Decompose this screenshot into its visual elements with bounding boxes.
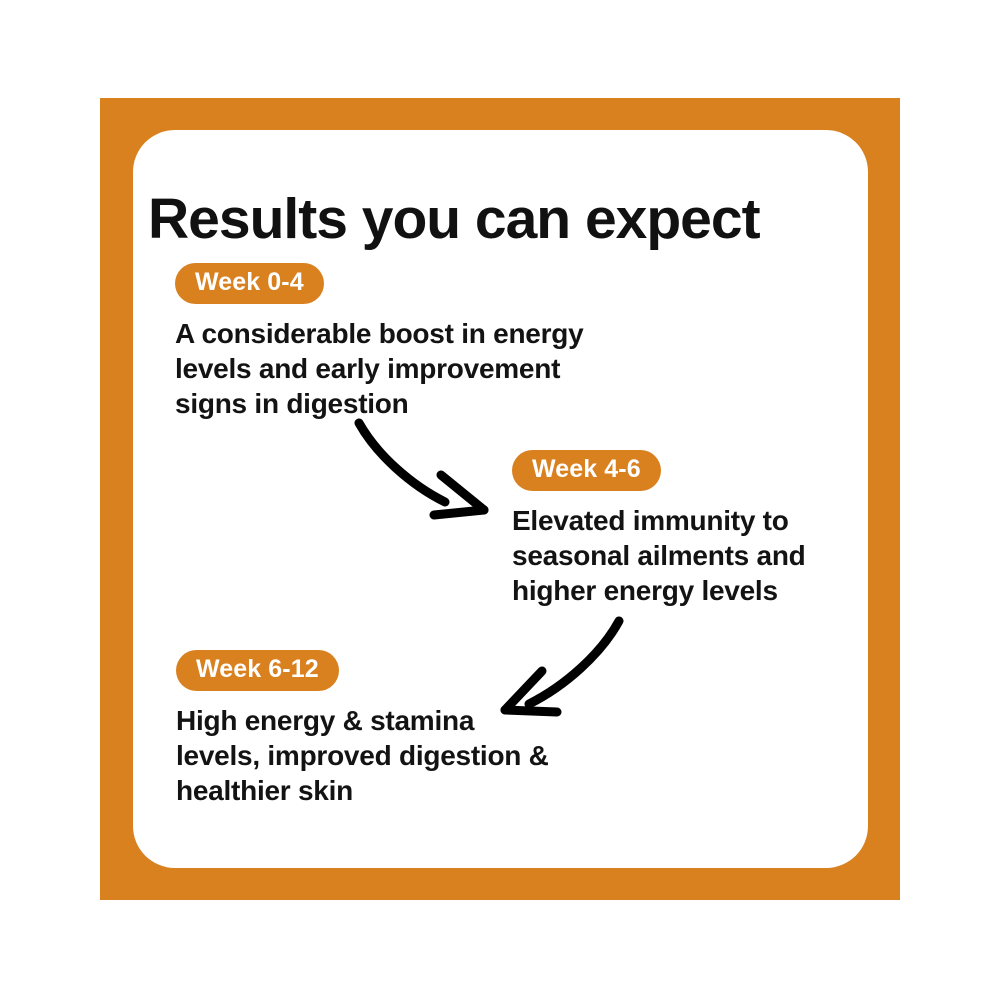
step-2-badge: Week 4-6 (512, 450, 661, 491)
step-3-badge: Week 6-12 (176, 650, 339, 691)
step-1-badge: Week 0-4 (175, 263, 324, 304)
timeline-stage: Week 0-4 A considerable boost in energy … (133, 130, 868, 868)
results-card: Results you can expect Week 0-4 A consid… (133, 130, 868, 868)
arrow-step1-to-step2-icon (359, 423, 484, 515)
step-3-description: High energy & stamina levels, improved d… (176, 703, 549, 808)
step-1-description: A considerable boost in energy levels an… (175, 316, 583, 421)
timeline-step-1: Week 0-4 A considerable boost in energy … (175, 263, 583, 421)
step-2-description: Elevated immunity to seasonal ailments a… (512, 503, 806, 608)
timeline-step-3: Week 6-12 High energy & stamina levels, … (176, 650, 549, 808)
timeline-step-2: Week 4-6 Elevated immunity to seasonal a… (512, 450, 806, 608)
